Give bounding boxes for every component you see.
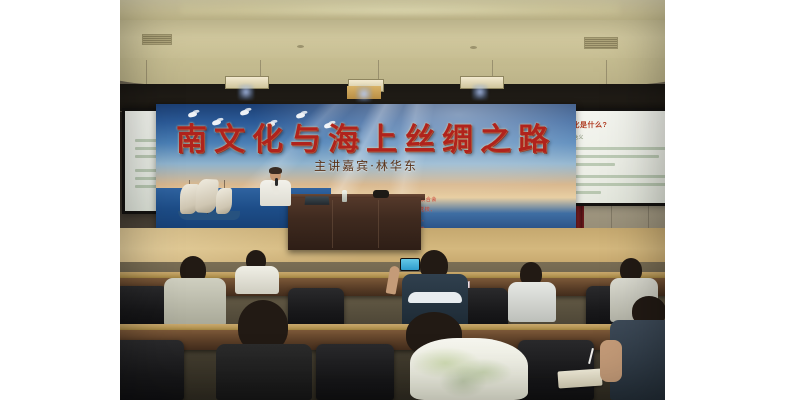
air-vent-icon [142,34,172,45]
ceiling-panel-seam [146,60,147,86]
laptop-on-podium [305,196,330,205]
speaker-hair [269,167,282,174]
smartphone-icon[interactable] [400,258,420,271]
slide-text-line [561,175,665,178]
pillarbox-left [0,0,120,400]
audience-chair [120,286,168,326]
podium-panel-seam [332,200,333,248]
screenshot-canvas: 一、文化是什么? (一)文化的含义 南文化与海上丝绸之路 主讲嘉宾·林华东 [0,0,800,400]
audience-chair [120,340,184,400]
handheld-microphone-icon [275,178,278,186]
banner-title: 南文化与海上丝绸之路 [156,114,576,159]
audience-chair [288,288,344,328]
pillarbox-right [665,0,800,400]
notebook-on-desk [557,368,602,388]
audience-chair [316,344,394,400]
audience-member-body [164,278,226,326]
ceiling-speaker-icon [297,45,304,48]
air-vent-icon [584,37,618,49]
audience-member-body [235,266,279,294]
microphone-base [373,190,389,198]
lecture-hall-photograph: 一、文化是什么? (一)文化的含义 南文化与海上丝绸之路 主讲嘉宾·林华东 [120,0,665,400]
spotlight-beam [238,84,254,100]
spotlight-beam [356,86,372,102]
ceiling-panel-seam [606,60,607,86]
wooden-podium [288,198,421,250]
audience-member-arm [600,340,622,382]
spotlight-beam [472,84,488,100]
shirt-stripe [408,292,462,303]
banner-subtitle: 主讲嘉宾·林华东 [156,157,576,174]
audience-member-body [508,282,556,322]
podium-panel-seam [378,200,379,248]
water-bottle [342,190,347,202]
audience-member-floral-top [410,338,528,400]
ceiling-speaker-icon [470,46,477,49]
audience-member-body [216,344,312,400]
ceiling-cove-light [180,0,620,14]
